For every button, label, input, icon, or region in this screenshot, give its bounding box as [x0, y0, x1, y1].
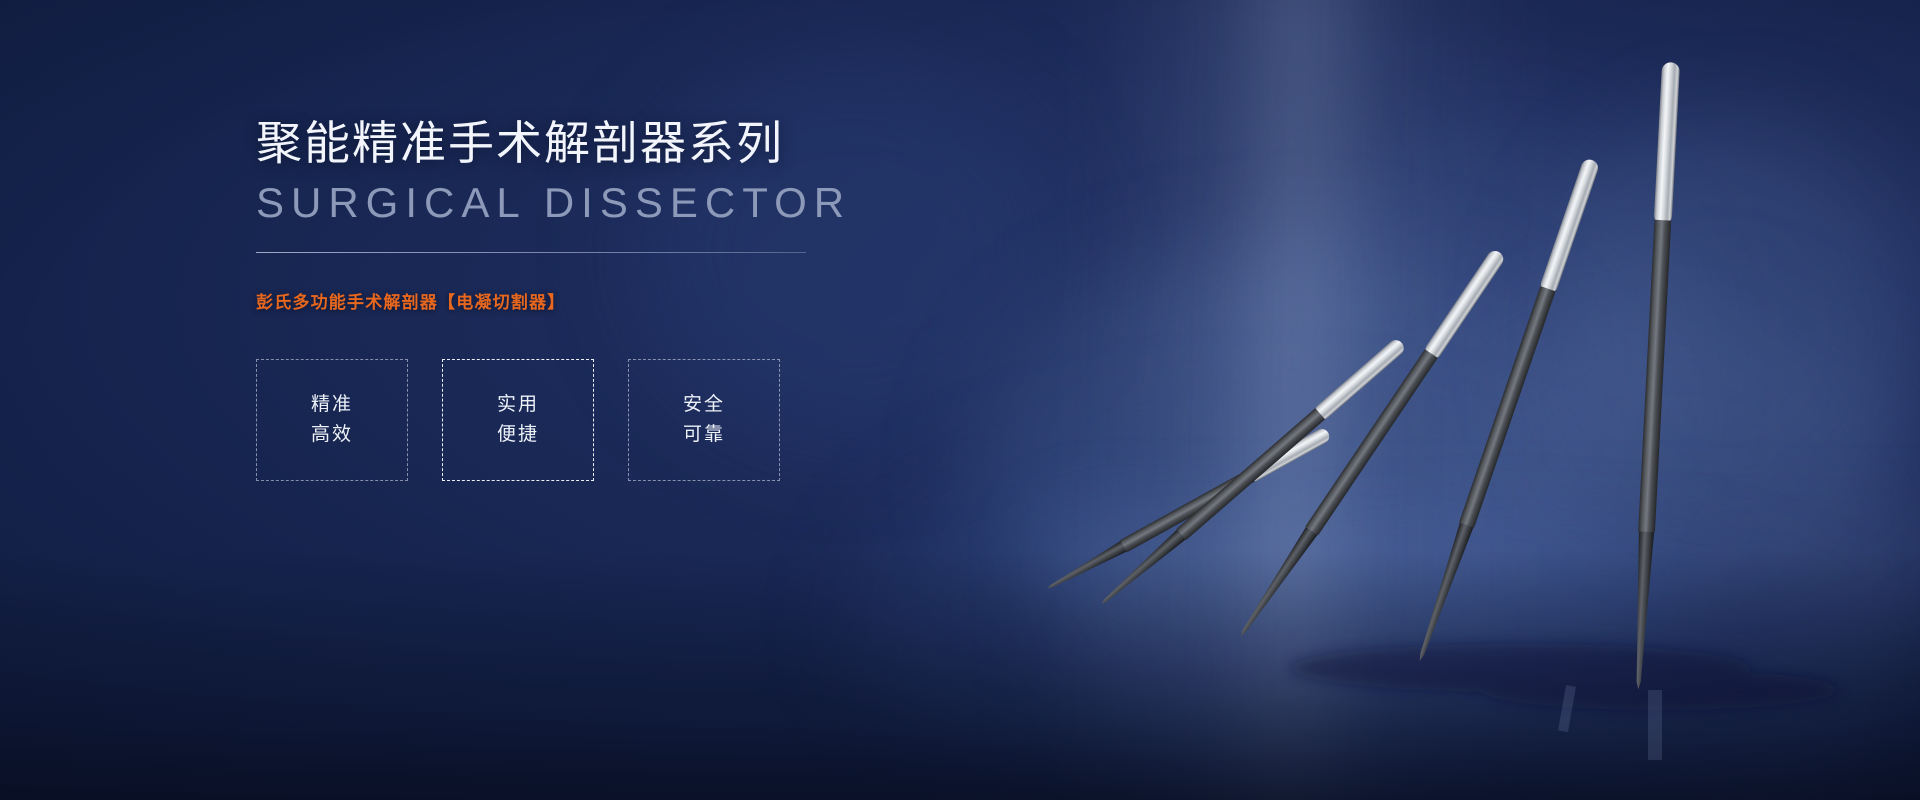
feature-line-1: 实用: [497, 390, 539, 419]
page-title-english: SURGICAL DISSECTOR: [256, 180, 976, 226]
feature-line-2: 便捷: [497, 420, 539, 449]
feature-badge-list: 精准 高效 实用 便捷 安全 可靠: [256, 359, 976, 481]
banner-hero: 聚能精准手术解剖器系列 SURGICAL DISSECTOR 彭氏多功能手术解剖…: [0, 0, 1920, 800]
feature-line-2: 高效: [311, 420, 353, 449]
instrument-2: [1096, 337, 1407, 610]
feature-line-1: 安全: [683, 390, 725, 419]
feature-badge-practical[interactable]: 实用 便捷: [442, 359, 594, 481]
feature-badge-safety[interactable]: 安全 可靠: [628, 359, 780, 481]
instrument-5: [1629, 62, 1680, 690]
feature-line-2: 可靠: [683, 420, 725, 449]
instrument-4: [1412, 157, 1601, 664]
divider: [256, 252, 806, 253]
feature-badge-precision[interactable]: 精准 高效: [256, 359, 408, 481]
product-subtitle: 彭氏多功能手术解剖器【电凝切割器】: [256, 288, 976, 313]
page-title: 聚能精准手术解剖器系列: [256, 118, 976, 170]
feature-line-1: 精准: [311, 390, 353, 419]
hero-copy-block: 聚能精准手术解剖器系列 SURGICAL DISSECTOR 彭氏多功能手术解剖…: [256, 118, 976, 481]
